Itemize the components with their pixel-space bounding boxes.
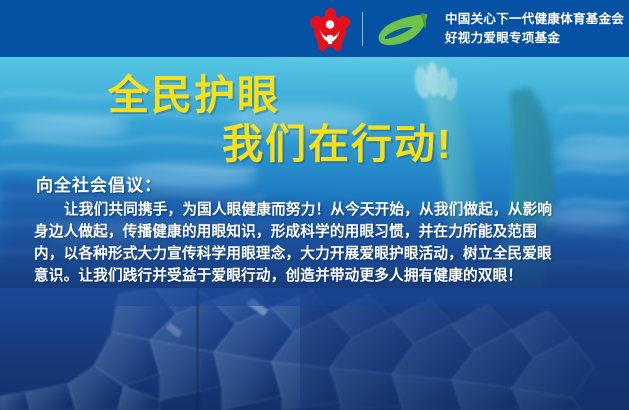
foundation-name-line-1: 中国关心下一代健康体育基金会 [445, 10, 624, 28]
appeal-paragraph-line: 意识。让我们践行并受益于爱眼行动，创造并带动更多人拥有健康的双眼！ [34, 265, 600, 287]
water-cube-facade-background [0, 288, 629, 410]
header-logo-group: 中国关心下一代健康体育基金会 好视力爱眼专项基金 [310, 0, 624, 57]
appeal-paragraph-line: 身边人做起，传播健康的用眼知识，形成科学的用眼习惯，并在力所能及范围 [34, 221, 600, 243]
eye-health-campaign-poster: 全民护眼 我们在行动! 向全社会倡议： 让我们共同携手，为国人眼健康而努力！从今… [0, 0, 629, 410]
foundation-name-line-2: 好视力爱眼专项基金 [445, 29, 624, 47]
appeal-title: 向全社会倡议： [36, 171, 162, 196]
headline-line-1: 全民护眼 [108, 75, 280, 116]
appeal-paragraph-line: 内，以各种形式大力宣传科学用眼理念，大力开展爱眼护眼活动，树立全民爱眼 [34, 243, 600, 265]
logo-divider [362, 12, 363, 46]
header-bar: 中国关心下一代健康体育基金会 好视力爱眼专项基金 [0, 0, 629, 57]
china-care-foundation-logo-icon [310, 7, 350, 51]
headline-line-2: 我们在行动! [222, 124, 453, 165]
haoshili-eye-leaf-logo-icon [375, 11, 431, 47]
appeal-paragraph-line: 让我们共同携手，为国人眼健康而努力！从今天开始，从我们做起，从影响 [34, 199, 600, 221]
foundation-name-block: 中国关心下一代健康体育基金会 好视力爱眼专项基金 [445, 10, 624, 46]
appeal-paragraph: 让我们共同携手，为国人眼健康而努力！从今天开始，从我们做起，从影响 身边人做起，… [34, 199, 600, 287]
